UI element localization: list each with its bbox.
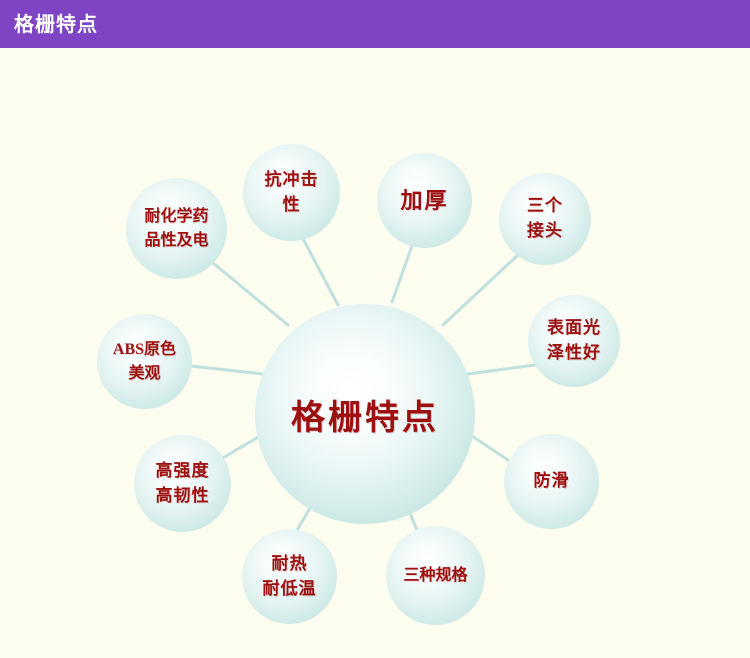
node-sanzhongguige[interactable]: 三种规格 xyxy=(386,526,485,625)
node-label: ABS原色美观 xyxy=(109,338,180,384)
hub-node[interactable]: 格栅特点 xyxy=(255,304,475,524)
hub-label: 格栅特点 xyxy=(287,390,443,439)
node-sangejietou[interactable]: 三个接头 xyxy=(499,173,591,265)
slide-page: 格栅特点 格栅特点 抗冲击性 加厚 xyxy=(0,0,750,658)
node-label: 三种规格 xyxy=(399,564,471,587)
node-gaoqiangdu[interactable]: 高强度高韧性 xyxy=(134,435,231,532)
node-naireaidiwen[interactable]: 耐热耐低温 xyxy=(242,529,337,624)
node-naihuaxueyaopin[interactable]: 耐化学药品性及电 xyxy=(126,178,227,279)
node-label: 抗冲击性 xyxy=(261,168,323,217)
node-label: 耐热耐低温 xyxy=(259,552,321,601)
node-label: 表面光泽性好 xyxy=(543,316,605,365)
node-label: 耐化学药品性及电 xyxy=(140,205,212,251)
node-abs-yuanse[interactable]: ABS原色美观 xyxy=(97,314,192,409)
connector-line xyxy=(443,254,519,325)
node-label: 高强度高韧性 xyxy=(152,459,214,508)
hub-and-spoke-diagram: 格栅特点 抗冲击性 加厚 三个接头 表面光泽性好 防滑 三种规格 耐热耐低温 高… xyxy=(0,48,750,658)
node-biaomianguangzexing[interactable]: 表面光泽性好 xyxy=(528,295,620,387)
node-kangchongjixing[interactable]: 抗冲击性 xyxy=(243,144,340,241)
node-jiahou[interactable]: 加厚 xyxy=(377,153,472,248)
node-label: 三个接头 xyxy=(523,194,567,243)
header-bar: 格栅特点 xyxy=(0,0,750,48)
node-fanghua[interactable]: 防滑 xyxy=(504,434,599,529)
node-label: 加厚 xyxy=(396,185,452,217)
node-label: 防滑 xyxy=(530,469,574,494)
connector-line xyxy=(207,258,288,325)
page-title: 格栅特点 xyxy=(14,11,98,37)
